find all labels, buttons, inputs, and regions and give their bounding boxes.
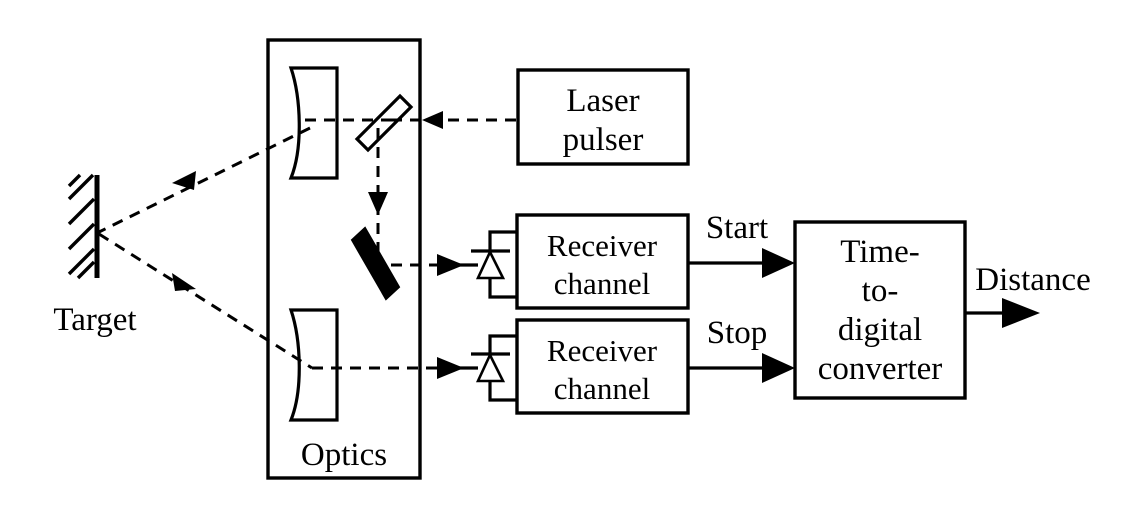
target-wall <box>69 175 97 278</box>
tdc-label-line4: converter <box>818 351 943 387</box>
transmit-lens <box>291 68 337 178</box>
receiver-start-label-line2: channel <box>554 266 650 301</box>
schematic-canvas: Target Optics <box>0 0 1123 527</box>
target-label: Target <box>53 302 136 338</box>
photodiode-stop <box>459 336 517 400</box>
distance-label: Distance <box>975 262 1090 298</box>
distance-output <box>965 298 1040 328</box>
tdc-label-line2: to- <box>862 273 899 309</box>
tdc-label-line1: Time- <box>840 234 919 270</box>
receiver-start-label-line1: Receiver <box>547 228 658 263</box>
receiver-stop-label-line2: channel <box>554 371 650 406</box>
laser-pulser-label-line1: Laser <box>566 83 639 119</box>
tdc-label-line3: digital <box>838 312 922 348</box>
start-label: Start <box>706 210 768 246</box>
laser-pulser-label-line2: pulser <box>563 122 644 158</box>
receiver-stop-label-line1: Receiver <box>547 333 658 368</box>
stop-signal <box>688 353 795 383</box>
optics-label: Optics <box>301 437 387 473</box>
laser-rangefinder-diagram: Target Optics <box>0 0 1123 527</box>
receive-lens <box>291 310 337 420</box>
start-signal <box>688 248 795 278</box>
photodiode-start <box>459 232 517 297</box>
stop-label: Stop <box>707 315 768 351</box>
